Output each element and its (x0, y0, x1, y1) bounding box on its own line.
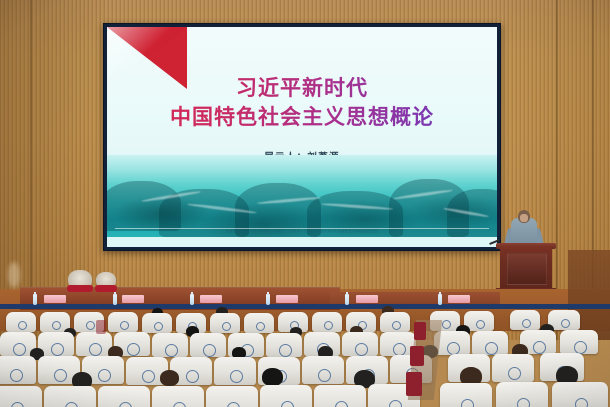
slide-title: 习近平新时代 中国特色社会主义思想概论 (107, 75, 497, 130)
audience-head (160, 370, 179, 386)
water-bottle (113, 294, 117, 305)
seat (206, 386, 258, 407)
seat (440, 383, 492, 407)
seat (152, 333, 188, 357)
podium-front-panel (507, 253, 547, 285)
seat (314, 385, 366, 407)
seat (496, 382, 548, 407)
seat (44, 386, 96, 407)
water-bottle (266, 294, 270, 305)
slide-title-line-1: 习近平新时代 (107, 75, 497, 101)
slide-landscape-image: 全面建成社会主义现代化强国、实现第二个百年奋斗目标，以中国式现代化全面推进中华民… (107, 155, 497, 237)
name-plate (200, 295, 222, 303)
name-plate (122, 295, 144, 303)
seat (142, 313, 172, 333)
water-bottle (33, 294, 37, 305)
seat (312, 312, 342, 332)
front-row-ledge (0, 304, 610, 309)
seat (552, 382, 608, 407)
water-bottle (438, 294, 442, 305)
seat (210, 313, 240, 333)
water-bottle (190, 294, 194, 305)
name-plate (356, 295, 378, 303)
side-chair (406, 372, 422, 396)
seat (342, 332, 378, 356)
speaker-face (520, 214, 528, 222)
audience-head (262, 368, 283, 386)
seat (266, 333, 302, 357)
seat (76, 332, 112, 356)
seat (190, 333, 226, 357)
side-chair (414, 322, 426, 340)
seat (152, 386, 204, 407)
name-plate (276, 295, 298, 303)
side-chair (96, 320, 106, 334)
seat (380, 312, 410, 332)
flower-base (95, 285, 117, 292)
lecture-hall-photo: 习近平新时代 中国特色社会主义思想概论 展示人：刘荔源 广西建设职业技术学院马克… (0, 0, 610, 407)
seat (108, 312, 138, 332)
seat (260, 385, 312, 407)
flower-base (67, 285, 93, 292)
name-plate (44, 295, 66, 303)
seat (510, 310, 540, 330)
seat (492, 354, 534, 382)
seat (302, 356, 344, 384)
seat (472, 331, 508, 355)
projection-screen: 习近平新时代 中国特色社会主义思想概论 展示人：刘荔源 广西建设职业技术学院马克… (103, 23, 501, 251)
seat (6, 312, 36, 332)
seat (214, 357, 256, 385)
seat (0, 386, 42, 407)
slide-footer-text: 全面建成社会主义现代化强国、实现第二个百年奋斗目标，以中国式现代化全面推进中华民… (121, 228, 483, 235)
audience-seating (0, 300, 610, 407)
seat (560, 330, 598, 354)
water-bottle (345, 294, 349, 305)
side-chair (410, 346, 424, 366)
seat (0, 356, 36, 384)
presentation-slide: 习近平新时代 中国特色社会主义思想概论 展示人：刘荔源 广西建设职业技术学院马克… (107, 27, 497, 247)
wall-lamp (8, 262, 20, 288)
seat (98, 386, 150, 407)
seat (244, 313, 274, 333)
name-plate (448, 295, 470, 303)
slide-title-line-2: 中国特色社会主义思想概论 (107, 104, 497, 130)
